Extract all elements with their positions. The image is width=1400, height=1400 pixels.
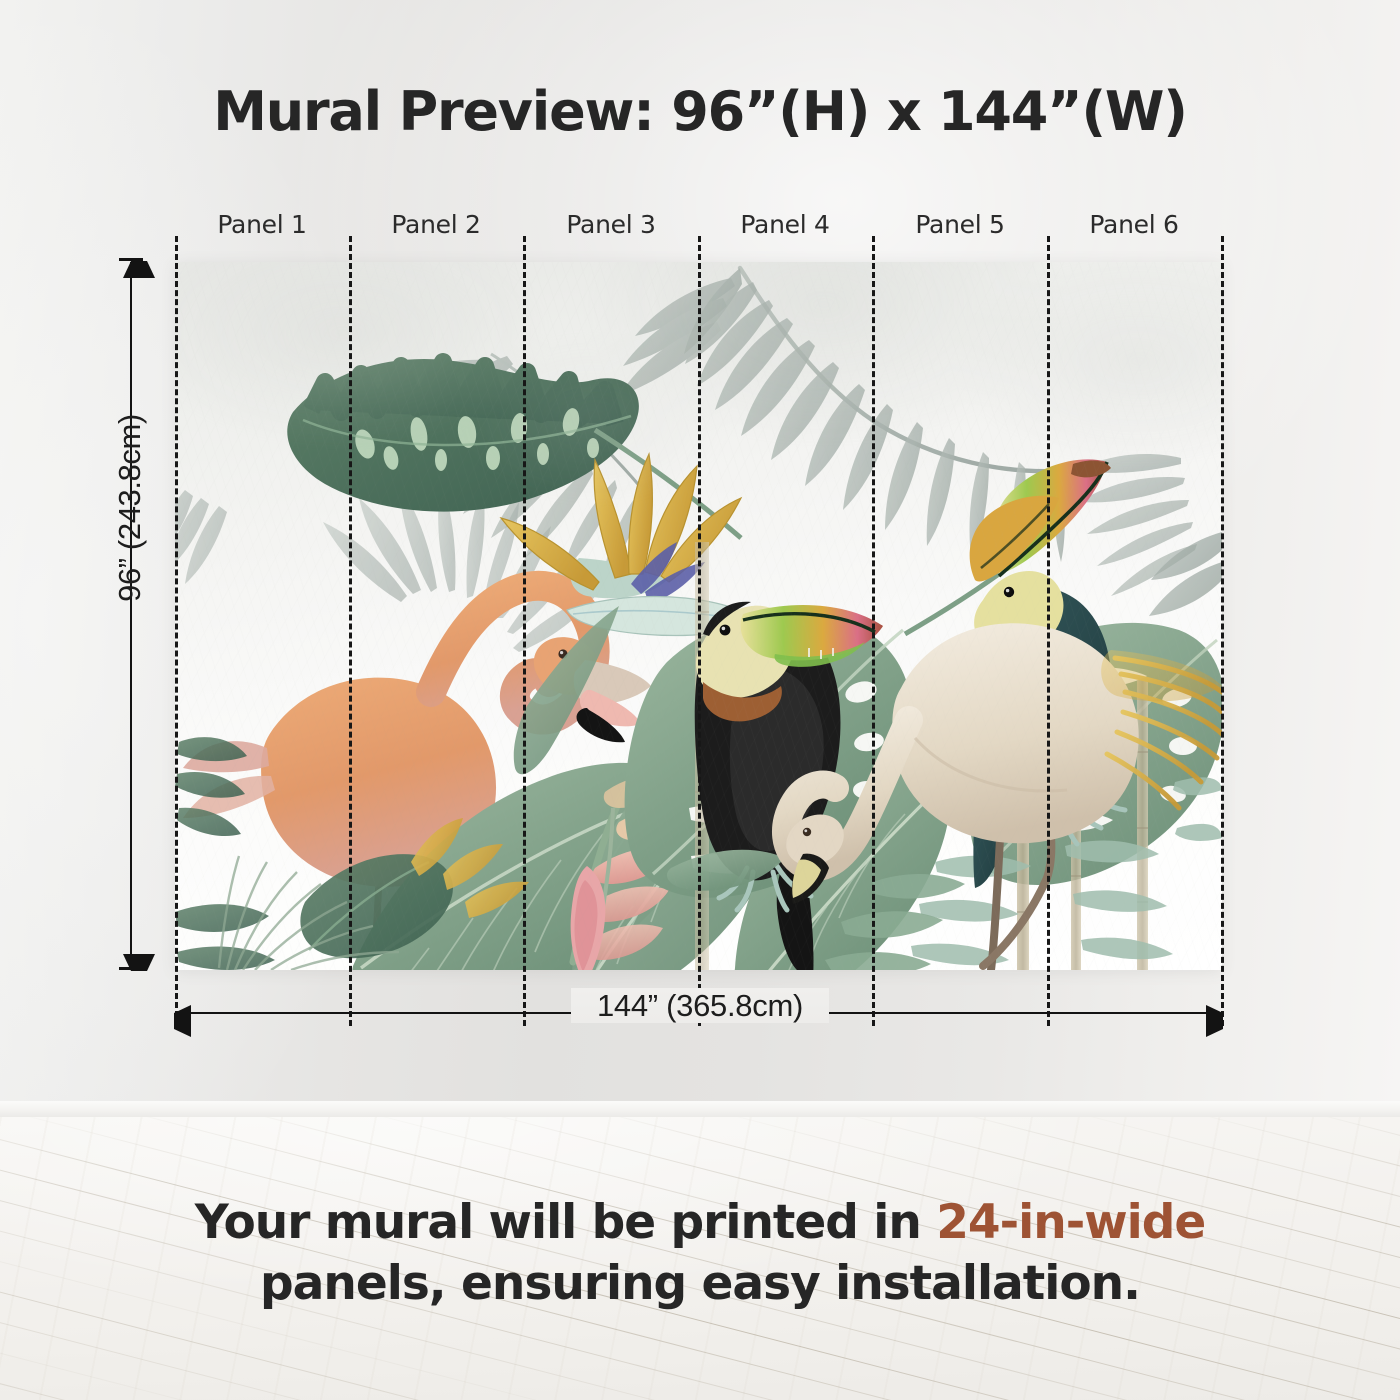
panel-divider-5 xyxy=(1047,236,1050,1026)
caption-line-1: Your mural will be printed in 24-in-wide xyxy=(0,1192,1400,1253)
width-dimension-text: 144” (365.8cm) xyxy=(571,988,829,1023)
caption-line-1-lead: Your mural will be printed in xyxy=(195,1195,936,1250)
panel-divider-4 xyxy=(872,236,875,1026)
caption-accent-panel-width: 24-in-wide xyxy=(936,1195,1205,1250)
panel-divider-2 xyxy=(523,236,526,1026)
panel-divider-1 xyxy=(349,236,352,1026)
edge-leaves-top-right xyxy=(1149,532,1222,616)
panel-divider-0 xyxy=(175,236,178,1026)
panel-label-6: Panel 6 xyxy=(1047,210,1221,239)
panel-label-4: Panel 4 xyxy=(698,210,872,239)
panel-divider-3 xyxy=(698,236,701,1026)
width-dimension-label: 144” (365.8cm) xyxy=(0,988,1400,1024)
panel-label-2: Panel 2 xyxy=(349,210,523,239)
room-scene: Mural Preview: 96”(H) x 144”(W) Panel 1 … xyxy=(0,0,1400,1400)
page-title: Mural Preview: 96”(H) x 144”(W) xyxy=(0,80,1400,143)
panel-label-1: Panel 1 xyxy=(175,210,349,239)
panel-divider-6 xyxy=(1221,236,1224,1026)
panel-label-3: Panel 3 xyxy=(524,210,698,239)
footer-caption: Your mural will be printed in 24-in-wide… xyxy=(0,1192,1400,1314)
height-dimension-label: 96” (243.8cm) xyxy=(112,378,148,638)
caption-line-2: panels, ensuring easy installation. xyxy=(0,1253,1400,1314)
panel-label-5: Panel 5 xyxy=(873,210,1047,239)
